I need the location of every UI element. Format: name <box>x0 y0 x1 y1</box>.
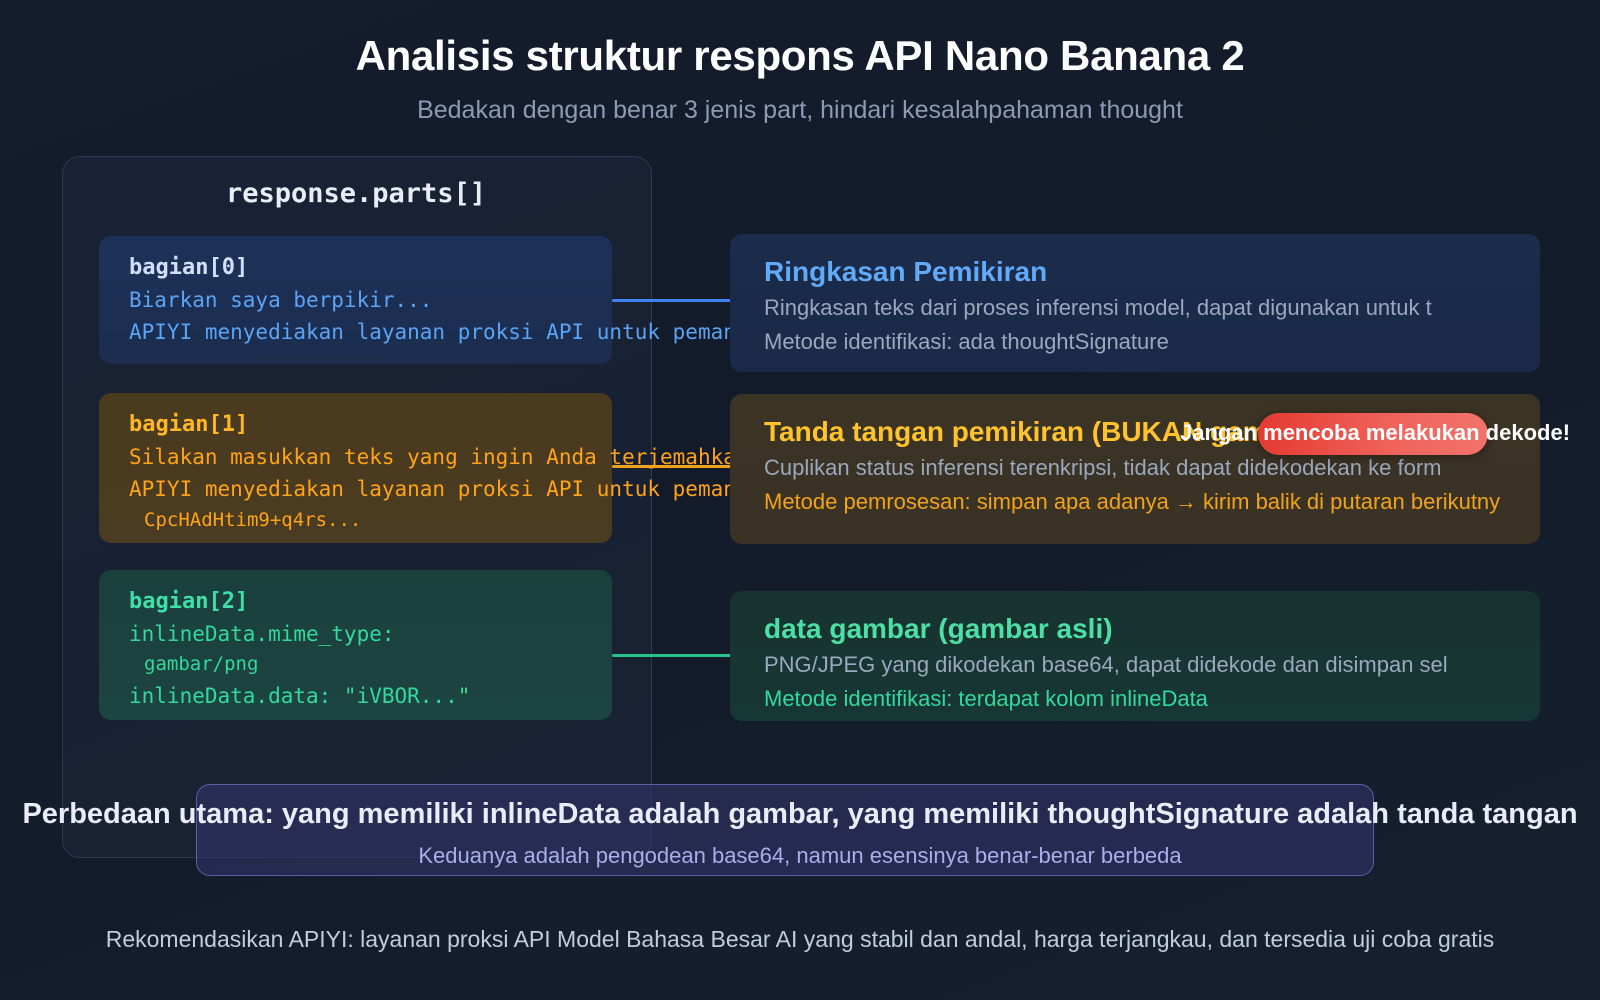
part-card-1[interactable]: bagian[1] Silakan masukkan teks yang ing… <box>99 393 612 543</box>
connector-line-part0 <box>612 299 732 302</box>
part-line-1-2: APIYI menyediakan layanan proksi API unt… <box>99 473 612 506</box>
part-line-1-1: Silakan masukkan teks yang ingin Anda te… <box>99 441 612 474</box>
info-method-1: Metode pemrosesan: simpan apa adanya → k… <box>730 485 1540 519</box>
info-title-2: data gambar (gambar asli) <box>730 609 1540 648</box>
info-method-0: Metode identifikasi: ada thoughtSignatur… <box>730 325 1540 359</box>
page-subtitle: Bedakan dengan benar 3 jenis part, hinda… <box>0 96 1600 125</box>
warning-badge-label: Jangan mencoba melakukan dekode! <box>1180 420 1570 446</box>
info-title-0: Ringkasan Pemikiran <box>730 252 1540 291</box>
part-label-2: bagian[2] <box>99 586 612 618</box>
footer-note: Rekomendasikan APIYI: layanan proksi API… <box>0 926 1600 953</box>
part-line-1-3: CpcHAdHtim9+q4rs... <box>99 506 612 535</box>
info-desc-0: Ringkasan teks dari proses inferensi mod… <box>730 291 1540 325</box>
conclusion-sub-text: Keduanya adalah pengodean base64, namun … <box>0 843 1600 869</box>
diagram-canvas: Analisis struktur respons API Nano Banan… <box>0 0 1600 1000</box>
panel-title: response.parts[] <box>62 178 650 209</box>
part-card-0[interactable]: bagian[0] Biarkan saya berpikir... APIYI… <box>99 236 612 364</box>
part-line-2-3: inlineData.data: "iVBOR..." <box>99 680 612 713</box>
part-line-0-1: Biarkan saya berpikir... <box>99 284 612 317</box>
conclusion-main-text: Perbedaan utama: yang memiliki inlineDat… <box>0 798 1600 831</box>
connector-line-part2 <box>612 654 732 657</box>
info-card-thought-summary[interactable]: Ringkasan Pemikiran Ringkasan teks dari … <box>730 234 1540 372</box>
info-card-image-data[interactable]: data gambar (gambar asli) PNG/JPEG yang … <box>730 591 1540 721</box>
info-method-2: Metode identifikasi: terdapat kolom inli… <box>730 682 1540 716</box>
info-desc-1: Cuplikan status inferensi terenkripsi, t… <box>730 451 1540 485</box>
part-line-2-2: gambar/png <box>99 650 612 679</box>
part-label-1: bagian[1] <box>99 409 612 441</box>
info-desc-2: PNG/JPEG yang dikodekan base64, dapat di… <box>730 648 1540 682</box>
part-line-2-1: inlineData.mime_type: <box>99 618 612 651</box>
page-title: Analisis struktur respons API Nano Banan… <box>0 32 1600 80</box>
part-line-0-2: APIYI menyediakan layanan proksi API unt… <box>99 316 612 349</box>
part-card-2[interactable]: bagian[2] inlineData.mime_type: gambar/p… <box>99 570 612 720</box>
part-label-0: bagian[0] <box>99 252 612 284</box>
